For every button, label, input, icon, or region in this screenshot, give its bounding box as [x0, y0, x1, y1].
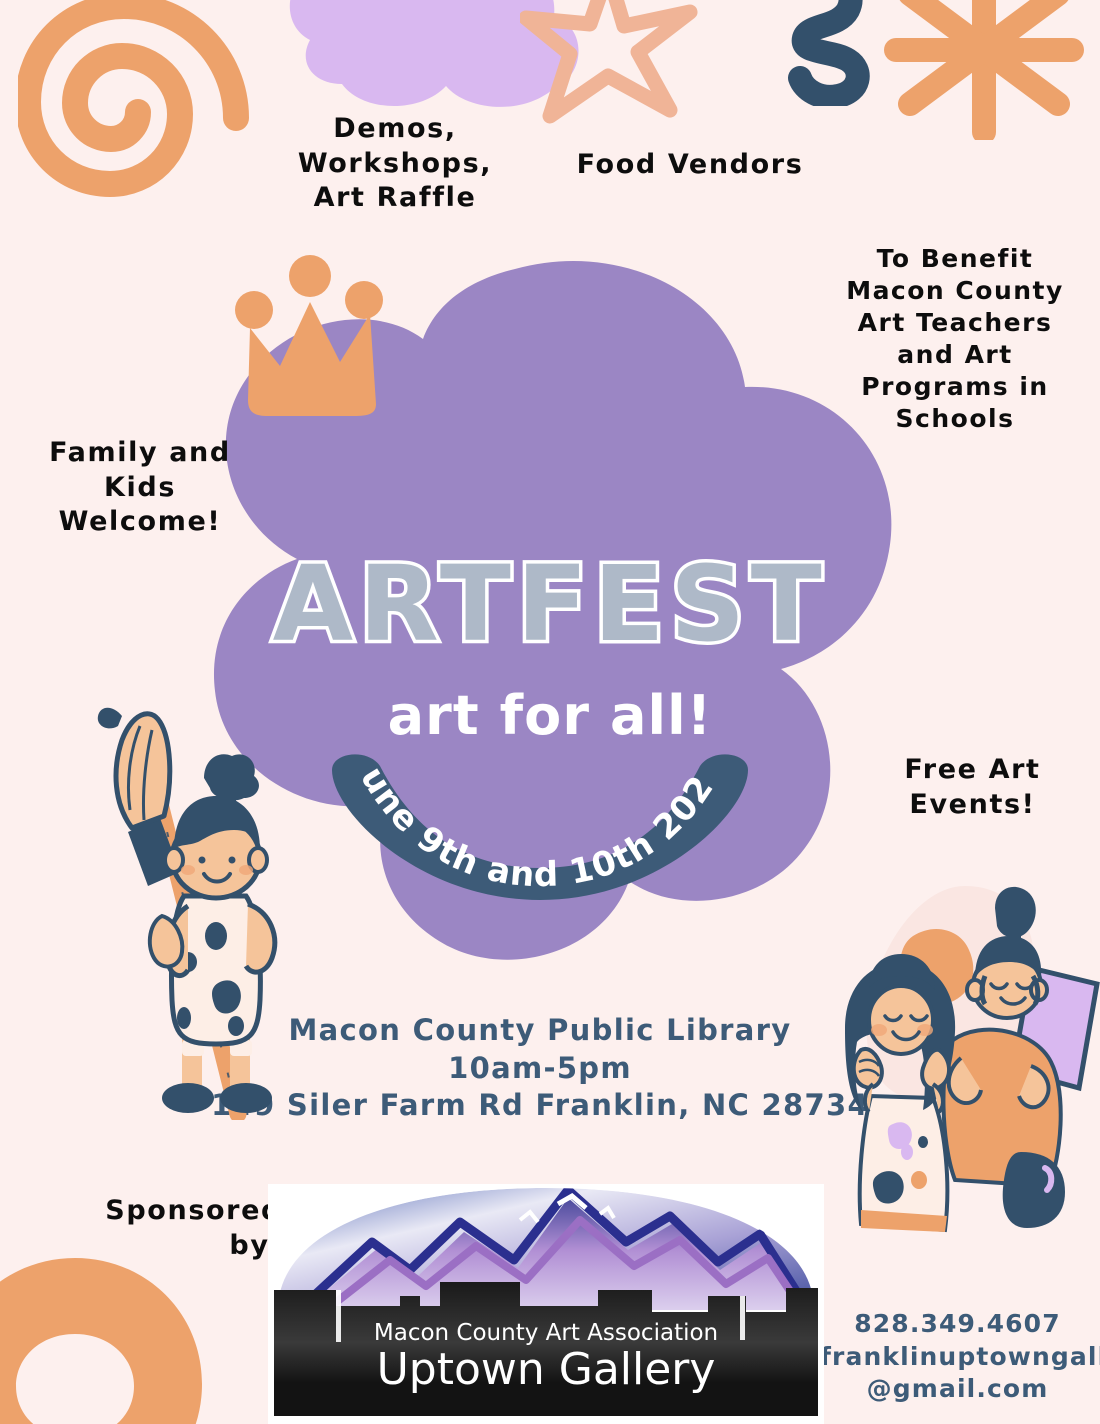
- squiggle-icon: [760, 0, 900, 106]
- callout-family-kids: Family and Kids Welcome!: [20, 436, 260, 540]
- contact-details: 828.349.4607 franklinuptowngallery @gmai…: [820, 1308, 1095, 1406]
- page-title: ARTFEST: [273, 552, 828, 656]
- crown-icon: [228, 248, 398, 418]
- flower-asterisk-icon: [880, 0, 1090, 140]
- headline-container: ARTFEST: [0, 552, 1100, 656]
- logo-association-text: Macon County Art Association: [374, 1320, 718, 1346]
- spiral-swirl-icon: [18, 0, 268, 236]
- sponsored-by-label: Sponsored by:: [72, 1194, 282, 1263]
- artfest-poster: ARTFEST art for all! June 9th and 10th 2…: [0, 0, 1100, 1424]
- ring-donut-icon: [0, 1238, 220, 1424]
- logo-gallery-text: Uptown Gallery: [377, 1344, 716, 1395]
- callout-free-events: Free Art Events!: [865, 753, 1080, 822]
- date-banner: June 9th and 10th 2023: [320, 752, 760, 902]
- callout-food-vendors: Food Vendors: [560, 148, 820, 183]
- callout-demos: Demos, Workshops, Art Raffle: [280, 112, 510, 216]
- two-children-illustration: [835, 880, 1100, 1240]
- uptown-gallery-logo: Macon County Art Association Uptown Gall…: [268, 1184, 824, 1424]
- child-with-paintbrush-illustration: [88, 700, 318, 1120]
- callout-benefit: To Benefit Macon County Art Teachers and…: [830, 243, 1080, 435]
- star-outline-icon: [520, 0, 700, 124]
